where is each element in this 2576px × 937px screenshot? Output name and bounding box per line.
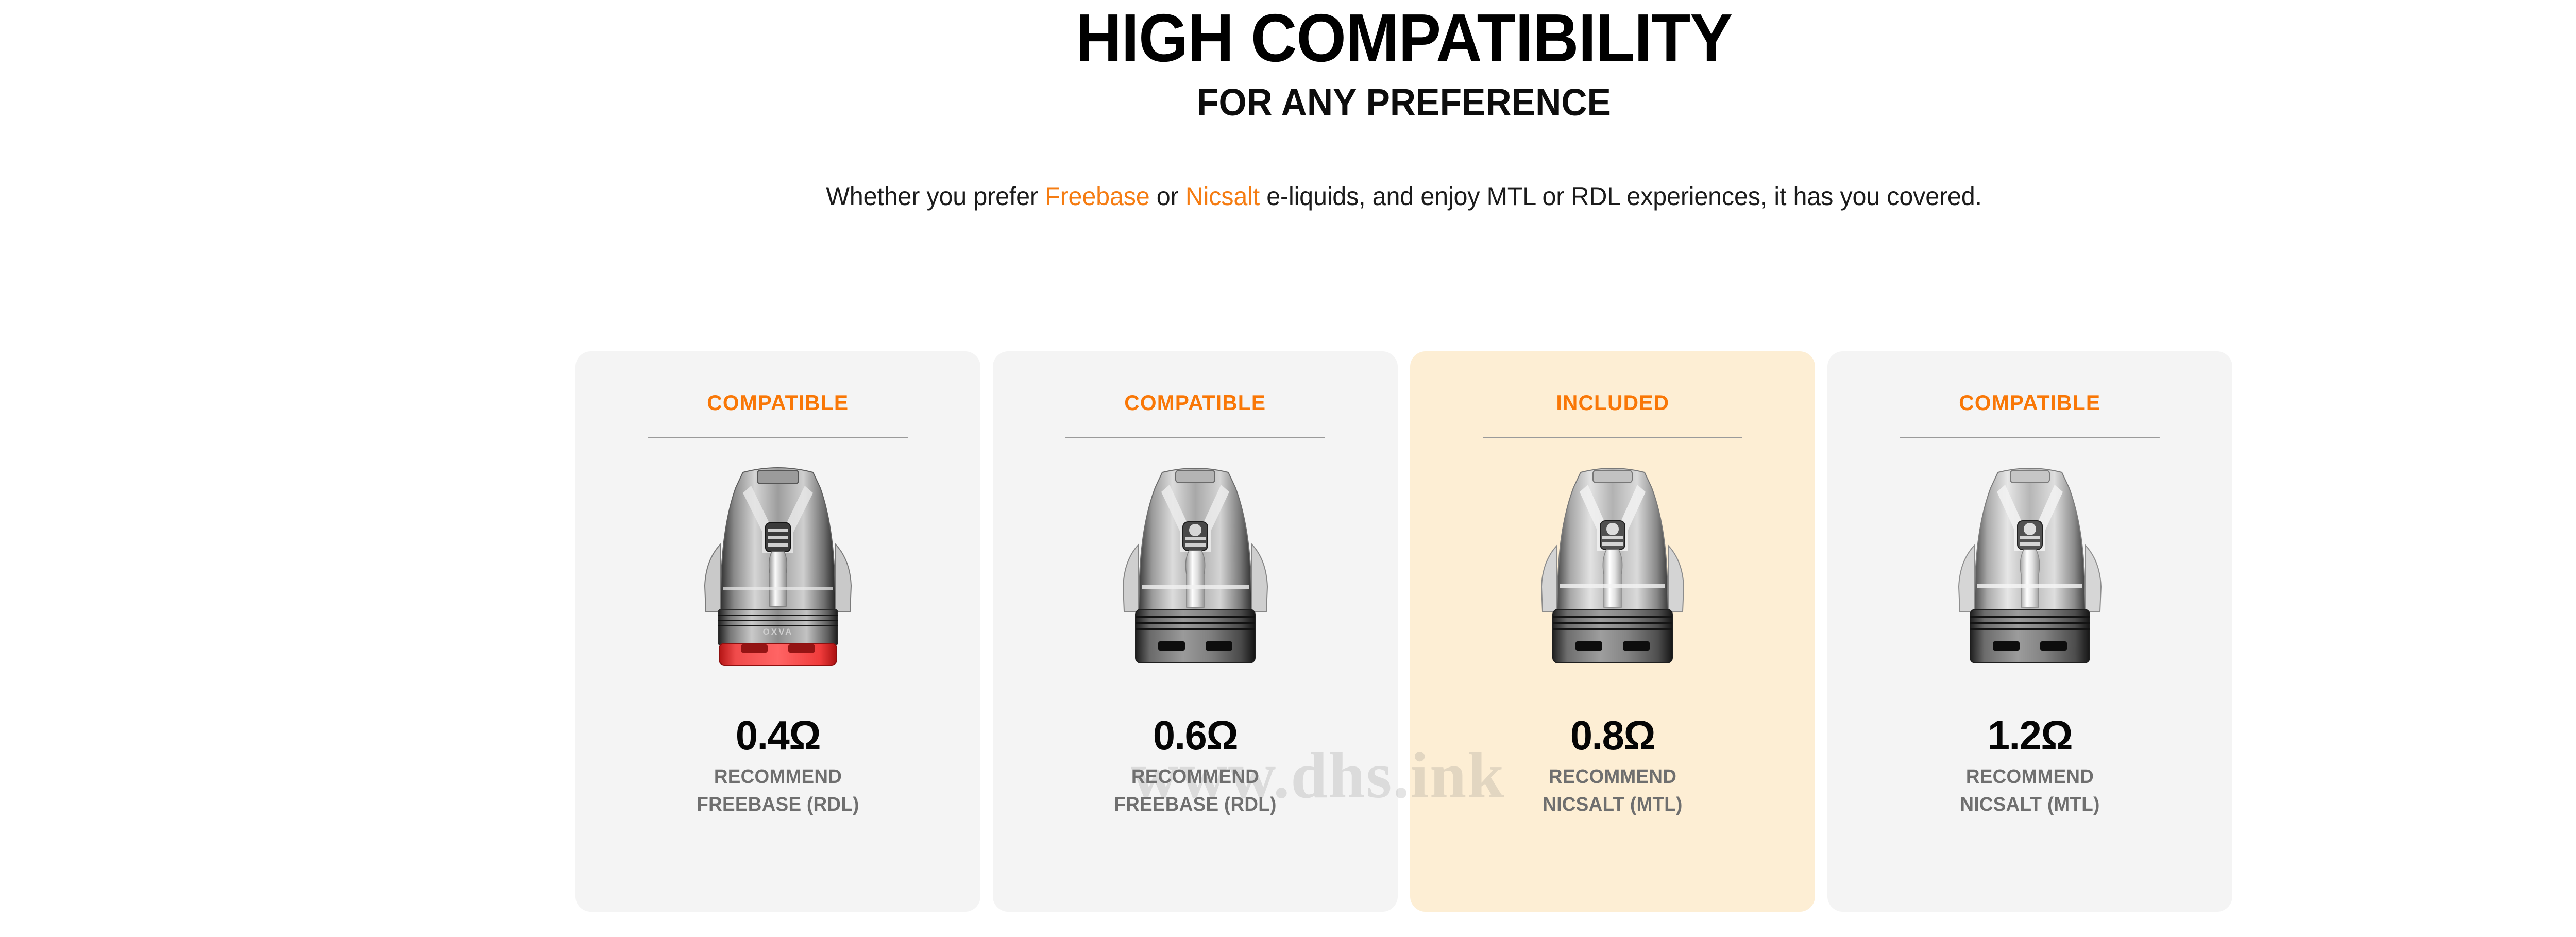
lede-text-3: e-liquids, and enjoy MTL or RDL experien… [1260, 182, 1982, 211]
page-title: HIGH COMPATIBILITY [84, 0, 2576, 72]
pod-card-included[interactable]: INCLUDED [1410, 351, 1815, 912]
page-subtitle: FOR ANY PREFERENCE [84, 72, 2576, 122]
pod-card[interactable]: COMPATIBLE [1827, 351, 2232, 912]
svg-text:OXVA: OXVA [763, 627, 793, 637]
recommend-line-1: RECOMMEND [1549, 766, 1676, 788]
recommend-text: RECOMMEND NICSALT (MTL) [1834, 763, 2226, 819]
status-badge: INCLUDED [1556, 390, 1669, 415]
section-description: Whether you prefer Freebase or Nicsalt e… [42, 181, 2576, 211]
pod-image [1937, 457, 2123, 673]
recommend-line-1: RECOMMEND [714, 766, 842, 788]
pod-cartridge-icon [1937, 457, 2123, 673]
resistance-value: 1.2Ω [1834, 712, 2226, 759]
resistance-value: 0.4Ω [582, 712, 974, 759]
pod-card[interactable]: COMPATIBLE [993, 351, 1398, 912]
recommend-text: RECOMMEND FREEBASE (RDL) [582, 763, 974, 819]
status-badge: COMPATIBLE [707, 390, 849, 415]
lede-text-1: Whether you prefer [826, 182, 1045, 211]
lede-highlight-nicsalt: Nicsalt [1185, 182, 1260, 211]
lede-highlight-freebase: Freebase [1045, 182, 1149, 211]
recommend-line-2: NICSALT (MTL) [1960, 794, 2099, 815]
recommend-text: RECOMMEND NICSALT (MTL) [1416, 763, 1809, 819]
resistance-value: 0.8Ω [1416, 712, 1809, 759]
divider [648, 437, 908, 438]
pod-image [1103, 457, 1288, 673]
pod-cartridge-icon [1520, 457, 1705, 673]
resistance-value: 0.6Ω [999, 712, 1392, 759]
pod-card[interactable]: COMPATIBLE [575, 351, 980, 912]
compatibility-section: HIGH COMPATIBILITY FOR ANY PREFERENCE Wh… [0, 0, 2576, 937]
pod-image [1520, 457, 1705, 673]
recommend-line-2: FREEBASE (RDL) [697, 794, 859, 815]
lede-text-2: or [1150, 182, 1185, 211]
divider [1900, 437, 2160, 438]
recommend-line-1: RECOMMEND [1966, 766, 2094, 788]
status-badge: COMPATIBLE [1959, 390, 2101, 415]
pod-cartridge-icon [1103, 457, 1288, 673]
divider [1483, 437, 1742, 438]
pod-image: OXVA [685, 457, 871, 673]
status-badge: COMPATIBLE [1125, 390, 1266, 415]
recommend-line-2: FREEBASE (RDL) [1114, 794, 1276, 815]
divider [1065, 437, 1325, 438]
pod-compatibility-card-row: COMPATIBLE [575, 351, 2232, 912]
recommend-line-2: NICSALT (MTL) [1543, 794, 1682, 815]
recommend-text: RECOMMEND FREEBASE (RDL) [999, 763, 1392, 819]
pod-cartridge-icon: OXVA [685, 457, 871, 673]
recommend-line-1: RECOMMEND [1131, 766, 1259, 788]
section-header: HIGH COMPATIBILITY FOR ANY PREFERENCE [0, 0, 2576, 122]
